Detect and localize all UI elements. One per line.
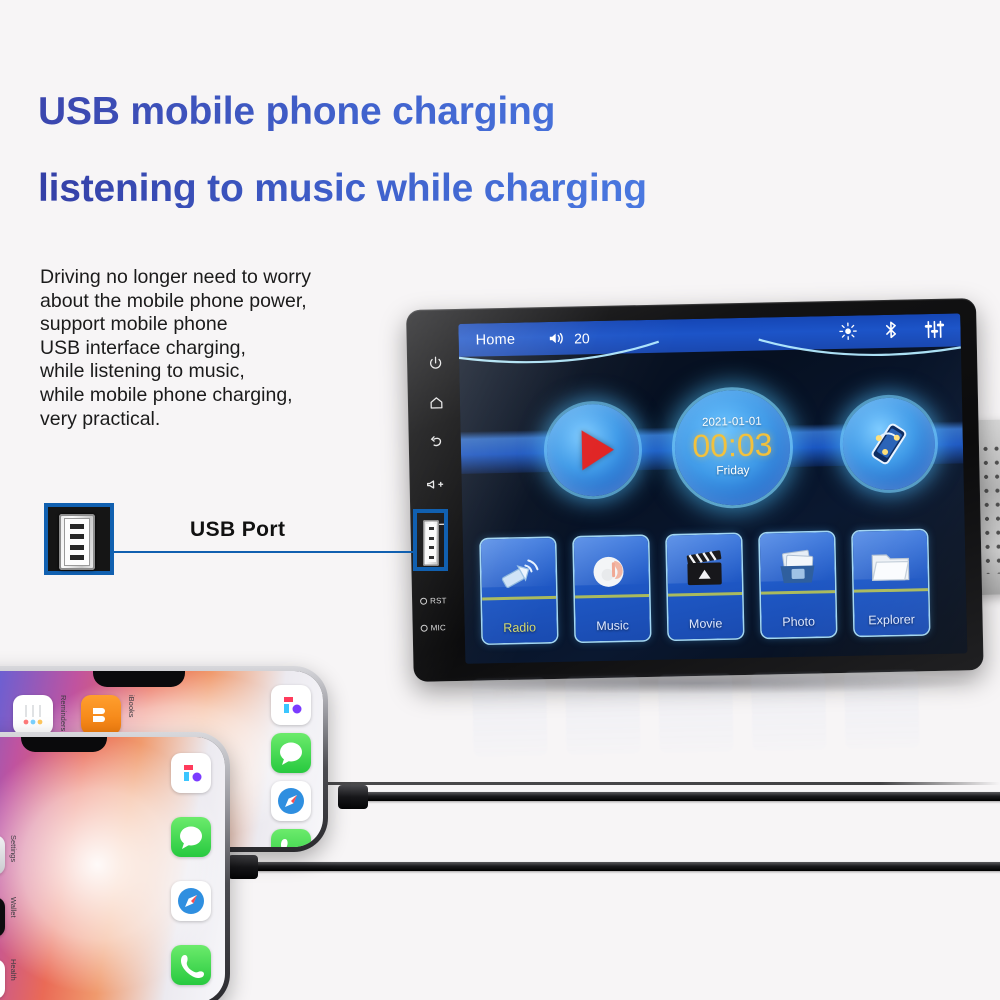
description-line: about the mobile phone power, [40, 290, 440, 314]
usb-contact-bar [429, 527, 434, 530]
usb-port-icon [423, 520, 439, 566]
app-label: Photo [761, 614, 835, 630]
usb-contact-bar [70, 545, 84, 550]
app-label: News [0, 695, 2, 714]
app-photo[interactable]: Photo [760, 532, 836, 638]
headline-line-1: USB mobile phone charging [38, 92, 818, 131]
volume-up-button[interactable] [415, 469, 460, 500]
callout-label: USB Port [190, 518, 285, 542]
reminders-icon[interactable] [13, 695, 53, 735]
wallet-icon[interactable] [0, 897, 5, 937]
home-button[interactable] [414, 387, 459, 418]
usb-contacts [64, 518, 90, 566]
usb-contact-bar [70, 534, 84, 539]
clock-weekday: Friday [716, 463, 750, 478]
callout-leader-line [112, 551, 414, 553]
clock-time: 00:03 [692, 428, 773, 463]
description-line: while listening to music, [40, 360, 440, 384]
speaker-icon [549, 331, 568, 346]
app-label: Radio [483, 620, 557, 636]
usb-contacts [426, 524, 436, 562]
messages-icon[interactable] [271, 733, 311, 773]
description-line: Driving no longer need to worry [40, 266, 440, 290]
usb-port-icon [59, 514, 95, 570]
equalizer-icon[interactable] [924, 319, 944, 341]
reset-hole-icon [420, 598, 427, 605]
description-line: while mobile phone charging, [40, 384, 440, 408]
page-title: USB mobile phone charging listening to m… [38, 92, 818, 208]
status-home-label[interactable]: Home [475, 331, 515, 348]
usb-contact-bar [70, 555, 84, 560]
phone-link-button[interactable] [842, 397, 936, 491]
cable-plug [338, 785, 368, 809]
phone-icon[interactable] [171, 945, 211, 985]
reset-port-label: RST [420, 596, 462, 606]
health-icon[interactable] [0, 959, 5, 999]
app-music[interactable]: Music [574, 536, 650, 642]
clapperboard-icon [667, 540, 742, 600]
app-label: Settings [9, 835, 18, 862]
app-label: Movie [668, 616, 742, 632]
photo-stack-icon [760, 538, 835, 598]
usb-contact-bar [70, 524, 84, 529]
description-paragraph: Driving no longer need to worry about th… [40, 266, 440, 431]
usb-contact-bar [429, 537, 434, 540]
phone-front: iBooks iTunes Store App Store TV Setting… [0, 732, 230, 1000]
play-button[interactable] [546, 403, 640, 497]
phone-mirror-icon [860, 415, 917, 472]
usb-cable [360, 792, 1000, 801]
reflection-app: Radio [472, 677, 548, 757]
photos-icon[interactable] [271, 685, 311, 725]
ibooks-icon[interactable] [81, 695, 121, 735]
reflection-app: Movie [658, 673, 734, 753]
usb-port-zoom-callout [44, 503, 114, 575]
volume-value: 20 [574, 330, 590, 346]
usb-contact-bar [429, 546, 434, 549]
notch [93, 671, 185, 687]
description-line: very practical. [40, 408, 440, 432]
photos-icon[interactable] [171, 753, 211, 793]
play-triangle-icon [581, 430, 614, 471]
app-movie[interactable]: Movie [667, 534, 743, 640]
reflection-app: Music [565, 675, 641, 755]
app-label: Wallet [9, 897, 18, 918]
hardware-button-column: RST MIC [412, 321, 463, 672]
volume-indicator[interactable]: 20 [549, 330, 590, 347]
touchscreen-display[interactable]: Home 20 [458, 313, 967, 663]
app-label: Explorer [854, 612, 928, 628]
app-label: Health [9, 959, 18, 981]
phone-icon[interactable] [271, 829, 311, 847]
cable-plug [228, 855, 258, 879]
usb-cable [248, 862, 1000, 871]
headline-line-2: listening to music while charging [38, 169, 818, 208]
unit-reflection: Radio Music Movie Photo Explorer [406, 664, 988, 794]
music-note-icon [574, 542, 649, 602]
app-label: iBooks [127, 695, 136, 718]
power-button[interactable] [413, 347, 458, 378]
product-infographic: USB mobile phone charging listening to m… [0, 0, 1000, 1000]
status-right-icons [838, 319, 944, 344]
mic-hole-icon [421, 625, 428, 632]
description-line: USB interface charging, [40, 337, 440, 361]
description-line: support mobile phone [40, 313, 440, 337]
satellite-dish-icon [481, 544, 556, 604]
messages-icon[interactable] [171, 817, 211, 857]
usb-port-highlight[interactable] [413, 509, 448, 571]
reflection-app: Explorer [844, 669, 920, 749]
app-radio[interactable]: Radio [481, 538, 557, 644]
safari-icon[interactable] [271, 781, 311, 821]
reflection-app: Photo [751, 671, 827, 751]
notch [21, 737, 107, 752]
car-head-unit: RST MIC Home 20 [406, 298, 1000, 695]
brightness-icon[interactable] [838, 321, 857, 343]
app-launcher-row: Radio Music [481, 530, 953, 644]
bluetooth-icon[interactable] [883, 320, 898, 343]
app-label: Reminders [59, 695, 68, 731]
phone-screen[interactable]: iBooks iTunes Store App Store TV Setting… [0, 737, 225, 1000]
clock-widget[interactable]: 2021-01-01 00:03 Friday [674, 389, 791, 506]
app-label: Music [576, 618, 650, 634]
folder-icon [853, 536, 928, 596]
microphone-port-label: MIC [421, 623, 463, 633]
app-explorer[interactable]: Explorer [853, 530, 929, 636]
back-button[interactable] [414, 427, 459, 458]
safari-icon[interactable] [171, 881, 211, 921]
settings-icon[interactable] [0, 835, 5, 875]
usb-contact-bar [429, 556, 434, 559]
